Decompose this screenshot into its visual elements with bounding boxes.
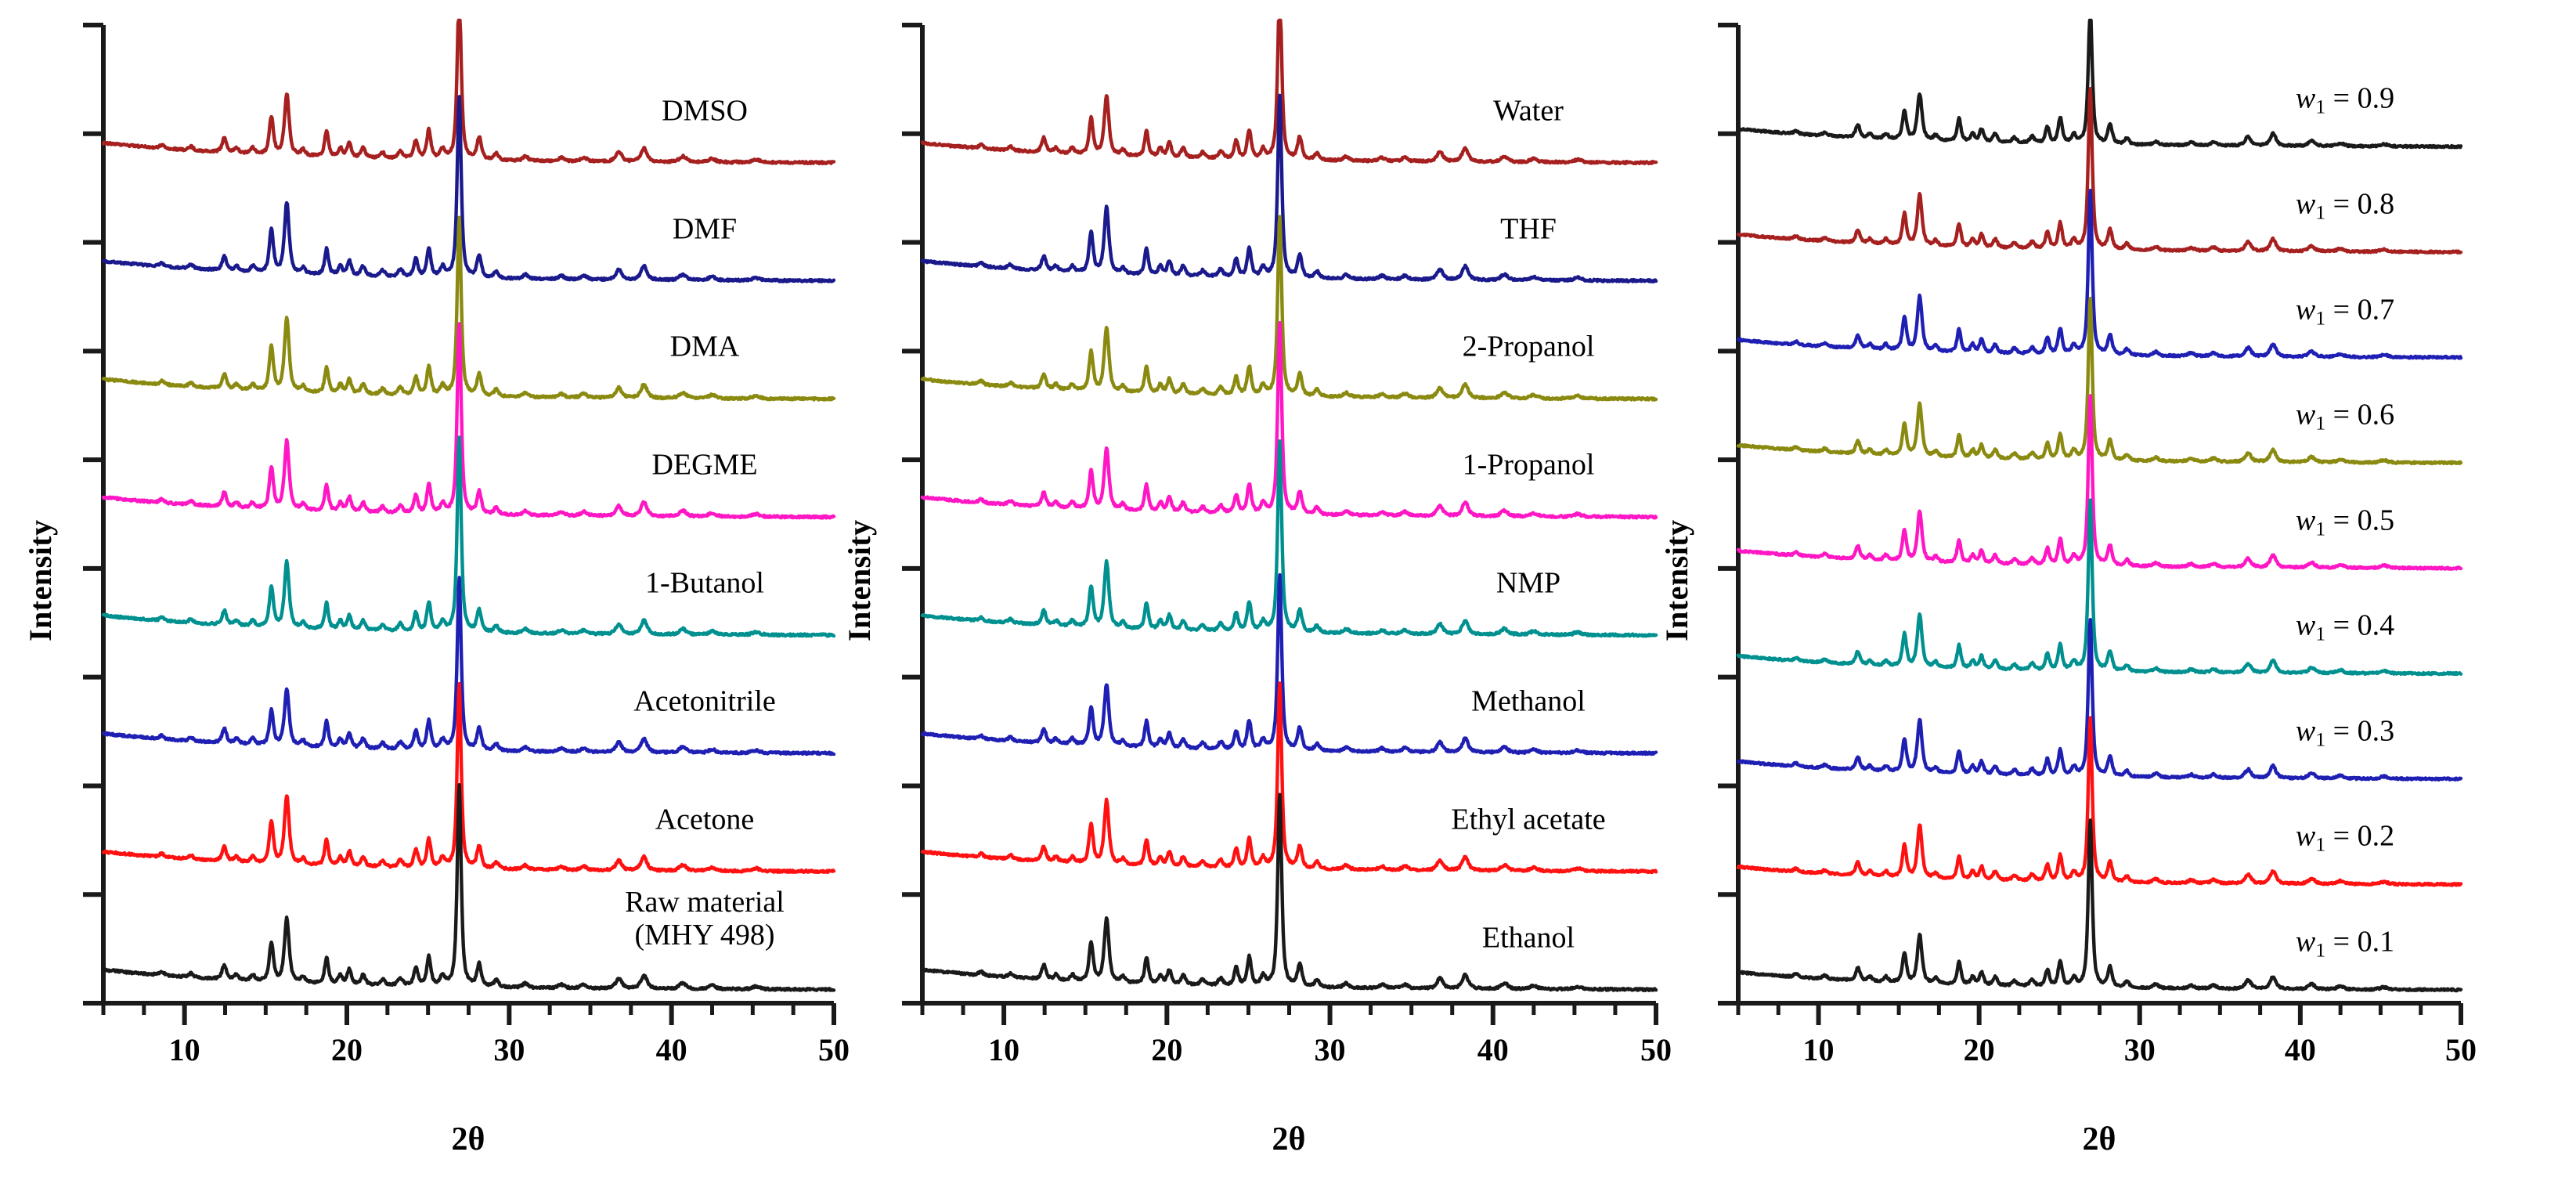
panel-solvents-a <box>0 0 2576 1188</box>
series-label: 1-Butanol <box>645 568 764 600</box>
series-label: Ethanol <box>1482 922 1575 954</box>
series-label: w1 = 0.9 <box>2296 83 2394 118</box>
x-axis-tick-label: 40 <box>625 1031 719 1068</box>
series-label: w1 = 0.8 <box>2296 188 2394 223</box>
series-label: Raw material(MHY 498) <box>625 886 785 951</box>
mass-fraction-symbol: w1 <box>2296 82 2325 115</box>
series-label: w1 = 0.3 <box>2296 715 2394 750</box>
xrd-figure: DMSODMFDMADEGME1-ButanolAcetonitrileAcet… <box>0 0 2576 1188</box>
x-axis-tick-label: 40 <box>1446 1031 1540 1068</box>
x-axis-tick-label: 20 <box>300 1031 394 1068</box>
x-axis-tick-label: 10 <box>957 1031 1051 1068</box>
x-axis-tick-label: 30 <box>1283 1031 1377 1068</box>
xrd-trace <box>103 577 834 754</box>
series-label: w1 = 0.5 <box>2296 504 2394 540</box>
mass-fraction-symbol: w1 <box>2296 714 2325 747</box>
mass-fraction-value: 0.7 <box>2358 293 2395 326</box>
series-label: NMP <box>1496 568 1560 600</box>
mass-fraction-value: 0.2 <box>2358 820 2395 853</box>
series-label: w1 = 0.7 <box>2296 294 2394 329</box>
series-label: DMSO <box>662 95 748 127</box>
xrd-trace <box>103 20 834 164</box>
x-axis-tick-label: 30 <box>462 1031 556 1068</box>
x-axis-tick-label: 20 <box>1120 1031 1214 1068</box>
mass-fraction-value: 0.1 <box>2358 926 2395 959</box>
series-label-line: (MHY 498) <box>625 919 785 951</box>
series-label: w1 = 0.2 <box>2296 821 2394 856</box>
series-label: DMA <box>670 331 740 363</box>
panel-solvents-b <box>0 0 2576 1188</box>
mass-fraction-value: 0.8 <box>2358 187 2395 220</box>
y-axis-label: Intensity <box>841 519 878 641</box>
x-axis-label: 2θ <box>437 1121 500 1158</box>
x-axis-tick-label: 50 <box>1609 1031 1703 1068</box>
x-axis-tick-label: 50 <box>2414 1031 2508 1068</box>
mass-fraction-value: 0.3 <box>2358 714 2395 747</box>
series-label: w1 = 0.6 <box>2296 399 2394 435</box>
panel-mass-fractions <box>0 0 2576 1188</box>
x-axis-tick-label: 50 <box>787 1031 881 1068</box>
xrd-trace <box>922 575 1656 754</box>
series-label: THF <box>1500 213 1557 245</box>
series-label-line: Raw material <box>625 886 785 919</box>
y-axis-label: Intensity <box>22 519 59 641</box>
mass-fraction-value: 0.9 <box>2358 82 2395 115</box>
series-label: DEGME <box>651 450 757 482</box>
x-axis-tick-label: 10 <box>1772 1031 1866 1068</box>
x-axis-tick-label: 30 <box>2093 1031 2187 1068</box>
series-label: w1 = 0.4 <box>2296 610 2394 645</box>
mass-fraction-symbol: w1 <box>2296 187 2325 220</box>
series-label: Ethyl acetate <box>1451 803 1605 836</box>
series-label: 2-Propanol <box>1463 331 1595 363</box>
series-label: w1 = 0.1 <box>2296 926 2394 962</box>
series-label: Methanol <box>1471 685 1586 717</box>
x-axis-label: 2θ <box>1257 1121 1320 1158</box>
mass-fraction-symbol: w1 <box>2296 609 2325 642</box>
mass-fraction-value: 0.6 <box>2358 399 2395 432</box>
xrd-trace <box>922 20 1656 164</box>
x-axis-label: 2θ <box>2068 1121 2130 1158</box>
mass-fraction-symbol: w1 <box>2296 926 2325 959</box>
mass-fraction-symbol: w1 <box>2296 820 2325 853</box>
mass-fraction-symbol: w1 <box>2296 504 2325 536</box>
series-label: DMF <box>673 213 737 245</box>
series-label: 1-Propanol <box>1463 450 1595 482</box>
series-label: Water <box>1493 95 1564 127</box>
x-axis-tick-label: 20 <box>1932 1031 2026 1068</box>
x-axis-tick-label: 10 <box>138 1031 232 1068</box>
series-label: Acetonitrile <box>633 685 775 717</box>
mass-fraction-value: 0.4 <box>2358 609 2395 642</box>
y-axis-label: Intensity <box>1658 519 1695 641</box>
series-label: Acetone <box>655 803 755 836</box>
mass-fraction-symbol: w1 <box>2296 399 2325 432</box>
mass-fraction-symbol: w1 <box>2296 293 2325 326</box>
x-axis-tick-label: 40 <box>2253 1031 2347 1068</box>
mass-fraction-value: 0.5 <box>2358 504 2395 536</box>
